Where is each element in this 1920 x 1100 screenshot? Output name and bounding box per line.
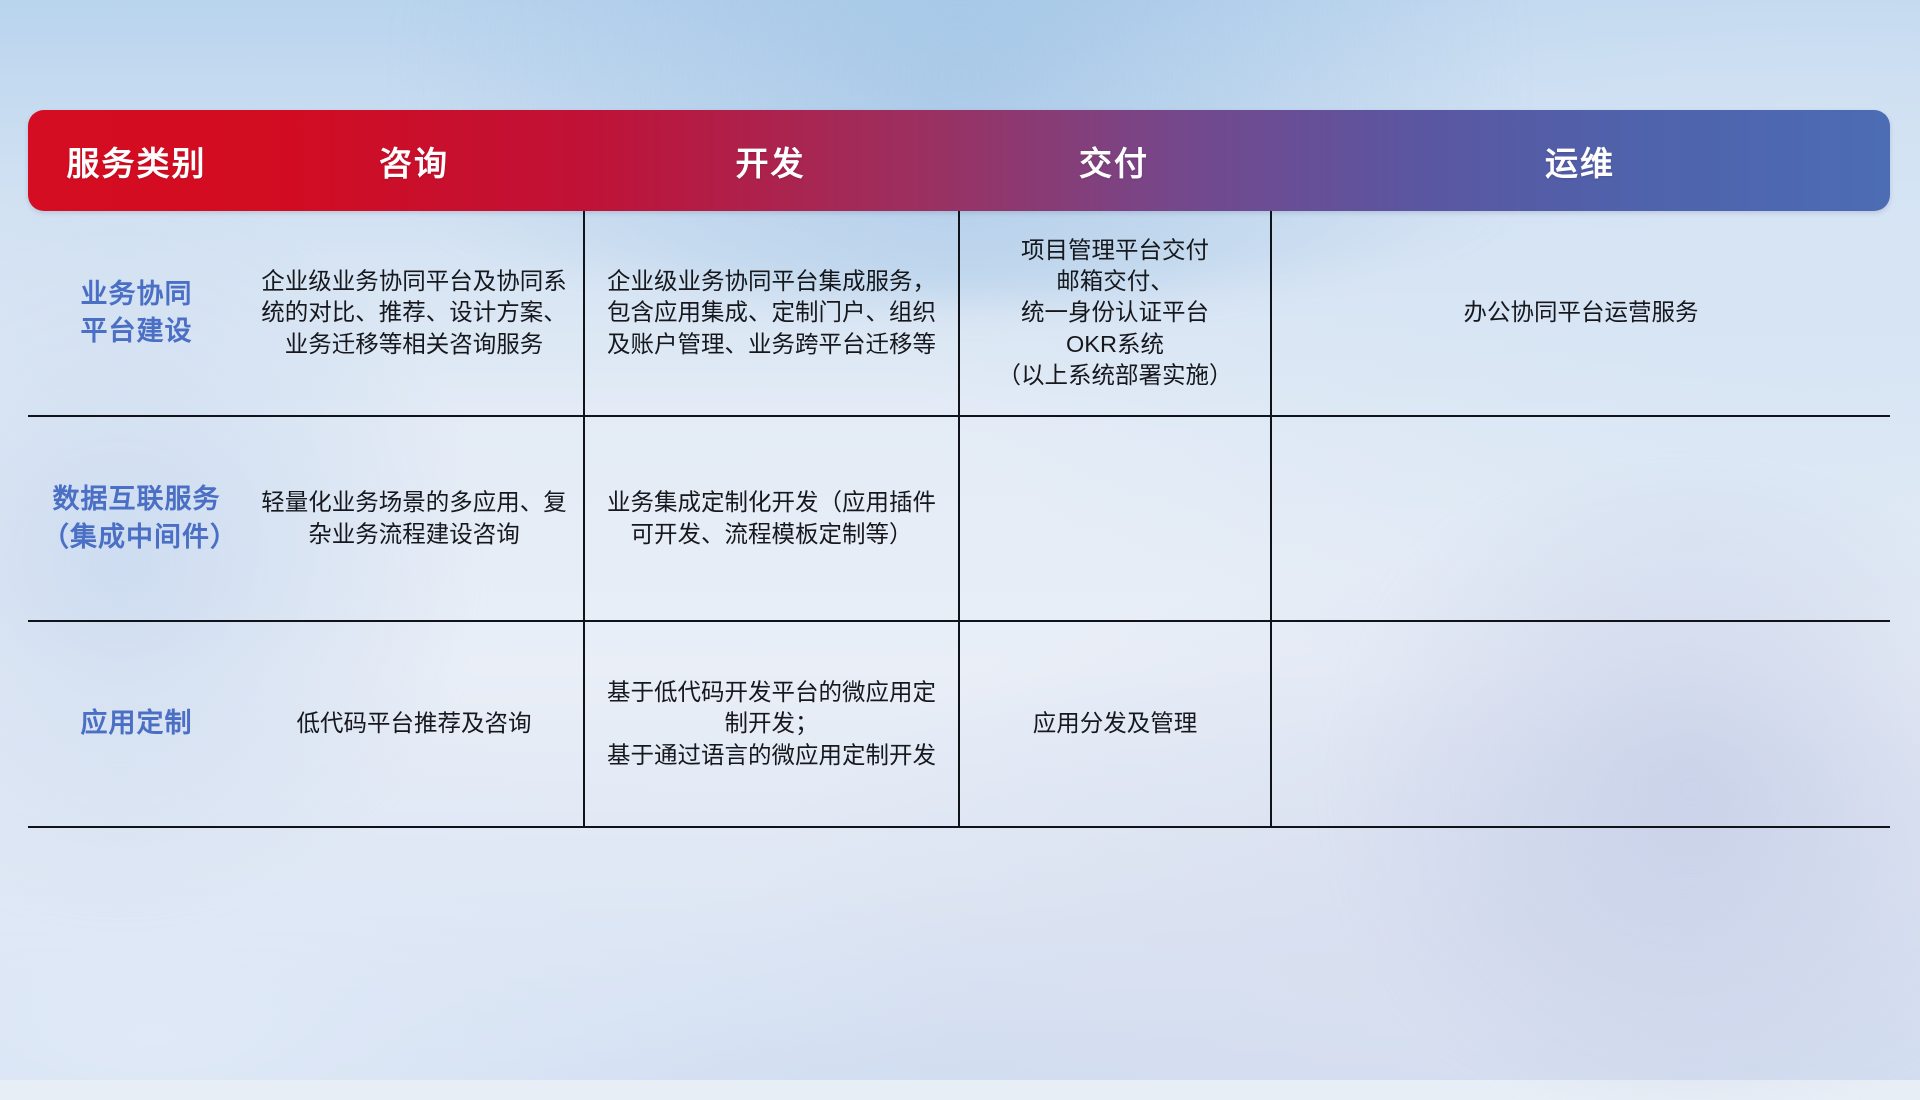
cell-category: 数据互联服务 （集成中间件）	[28, 417, 245, 620]
column-header-operations: 运维	[1270, 110, 1890, 211]
cell-development: 基于低代码开发平台的微应用定 制开发； 基于通过语言的微应用定制开发	[583, 622, 958, 826]
column-header-development: 开发	[583, 110, 958, 211]
table-row: 应用定制 低代码平台推荐及咨询 基于低代码开发平台的微应用定 制开发； 基于通过…	[28, 622, 1890, 828]
column-header-label: 运维	[1545, 137, 1615, 185]
column-header-label: 服务类别	[67, 137, 207, 185]
cell-consulting: 轻量化业务场景的多应用、复 杂业务流程建设咨询	[245, 417, 583, 620]
cell-development: 业务集成定制化开发（应用插件 可开发、流程模板定制等）	[583, 417, 958, 620]
cell-delivery	[958, 417, 1270, 620]
cell-delivery: 应用分发及管理	[958, 622, 1270, 826]
cell-category: 应用定制	[28, 622, 245, 826]
cell-operations	[1270, 417, 1890, 620]
column-header-label: 咨询	[379, 137, 449, 185]
cell-consulting: 企业级业务协同平台及协同系 统的对比、推荐、设计方案、 业务迁移等相关咨询服务	[245, 211, 583, 415]
cell-delivery: 项目管理平台交付 邮箱交付、 统一身份认证平台 OKR系统 （以上系统部署实施）	[958, 211, 1270, 415]
cell-operations	[1270, 622, 1890, 826]
table-header-row: 服务类别 咨询 开发 交付 运维	[28, 110, 1890, 211]
cell-consulting: 低代码平台推荐及咨询	[245, 622, 583, 826]
cell-development: 企业级业务协同平台集成服务， 包含应用集成、定制门户、组织 及账户管理、业务跨平…	[583, 211, 958, 415]
column-header-delivery: 交付	[958, 110, 1270, 211]
table-row: 数据互联服务 （集成中间件） 轻量化业务场景的多应用、复 杂业务流程建设咨询 业…	[28, 417, 1890, 622]
column-header-label: 开发	[736, 137, 806, 185]
column-header-consulting: 咨询	[245, 110, 583, 211]
table-body: 业务协同 平台建设 企业级业务协同平台及协同系 统的对比、推荐、设计方案、 业务…	[28, 211, 1890, 828]
column-header-service-category: 服务类别	[28, 110, 245, 211]
column-header-label: 交付	[1079, 137, 1149, 185]
cell-category: 业务协同 平台建设	[28, 211, 245, 415]
service-matrix-table: 服务类别 咨询 开发 交付 运维 业务协同 平台建设 企业级业务协同平台及协同系…	[28, 110, 1890, 828]
cell-operations: 办公协同平台运营服务	[1270, 211, 1890, 415]
table-row: 业务协同 平台建设 企业级业务协同平台及协同系 统的对比、推荐、设计方案、 业务…	[28, 211, 1890, 417]
